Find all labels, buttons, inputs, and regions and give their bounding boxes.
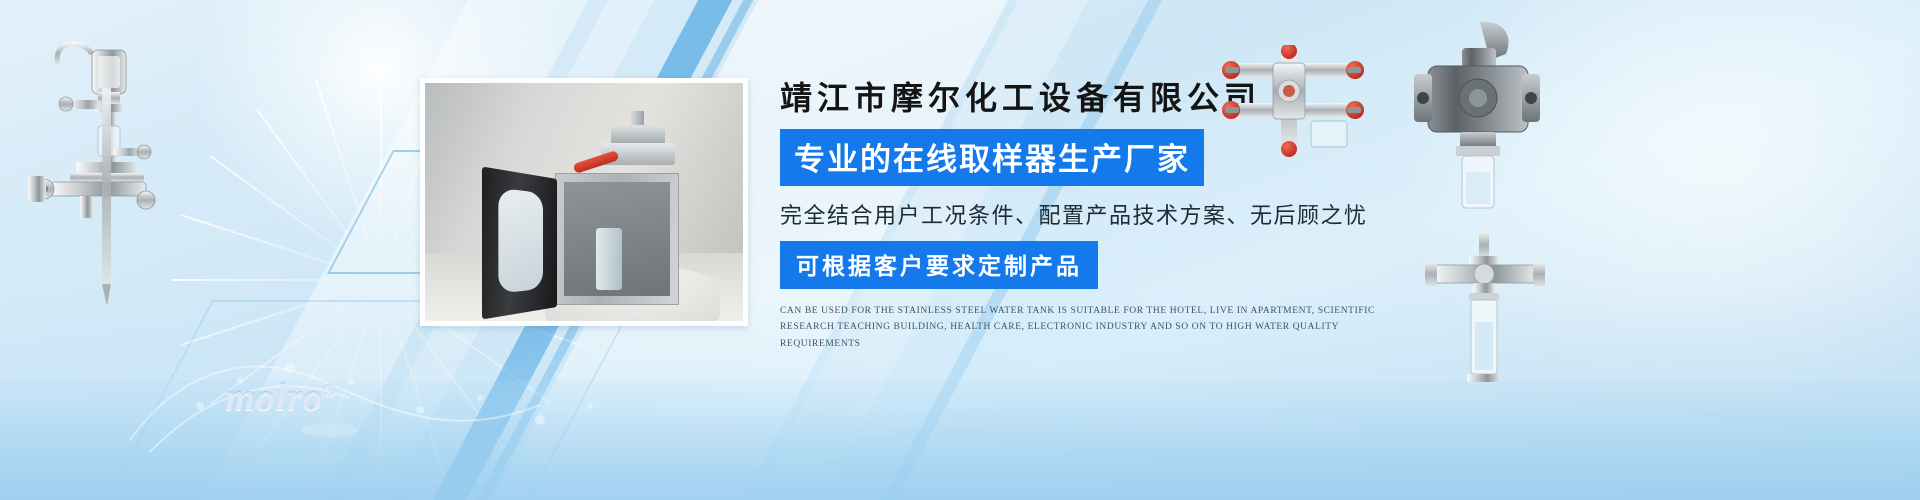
inline-sampler-valve-illustration xyxy=(1425,230,1545,390)
tagline-badge: 可根据客户要求定制产品 xyxy=(780,241,1098,289)
subline-text: 完全结合用户工况条件、配置产品技术方案、无后顾之忧 xyxy=(780,198,1400,230)
flanged-valve-body-illustration xyxy=(1410,20,1545,220)
registered-mark-icon: ® xyxy=(323,381,337,400)
brand-watermark-text: molro xyxy=(225,377,323,419)
water-splash-decoration xyxy=(120,310,640,460)
promo-banner: 靖江市摩尔化工设备有限公司 专业的在线取样器生产厂家 完全结合用户工况条件、配置… xyxy=(0,0,1920,500)
cross-manifold-valve-assembly-illustration xyxy=(1215,45,1375,160)
brand-watermark: molro® xyxy=(225,376,337,420)
wall-mounted-sampler-assembly-illustration xyxy=(10,30,160,310)
headline-badge: 专业的在线取样器生产厂家 xyxy=(780,129,1204,186)
product-photo xyxy=(420,78,748,326)
english-description: CAN BE USED FOR THE STAINLESS STEEL WATE… xyxy=(780,303,1380,353)
